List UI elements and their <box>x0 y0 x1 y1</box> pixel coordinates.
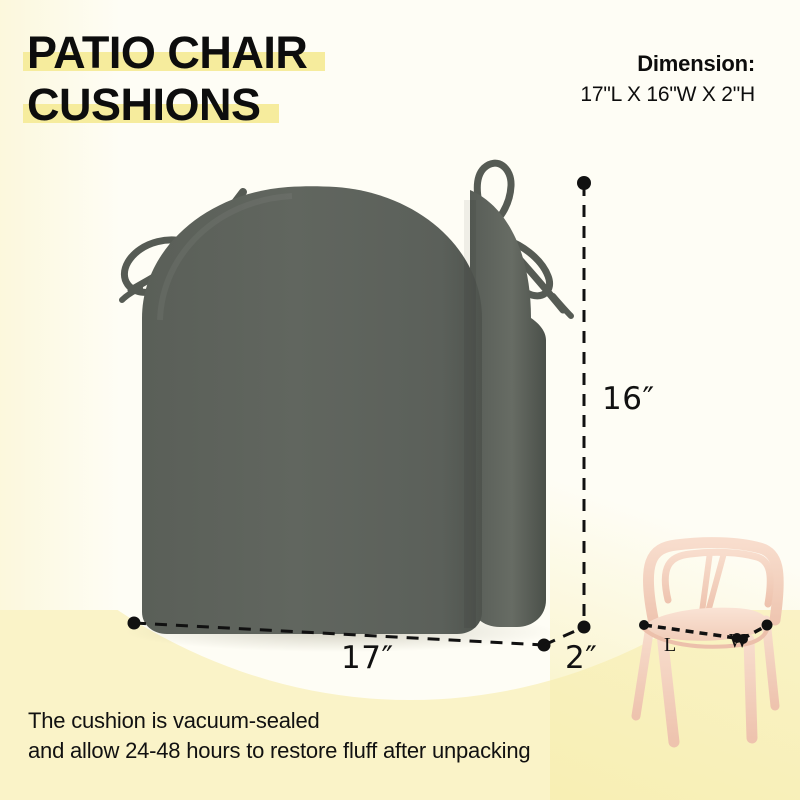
page-title-line-1-text: PATIO CHAIR <box>27 27 307 78</box>
page-title: PATIO CHAIR CUSHIONS <box>27 27 447 131</box>
footer-note: The cushion is vacuum-sealed and allow 2… <box>28 706 530 766</box>
product-infographic-poster: PATIO CHAIR CUSHIONS Dimension: 17"L X 1… <box>0 0 800 800</box>
dimension-caption-value: 17"L X 16"W X 2"H <box>580 80 755 110</box>
page-title-line-2: CUSHIONS <box>27 79 279 131</box>
page-title-line-2-text: CUSHIONS <box>27 79 261 130</box>
measurement-label-height: 16″ <box>602 381 655 417</box>
chair-label-width: W <box>729 630 748 653</box>
dimension-caption-title: Dimension: <box>580 50 755 78</box>
dimension-caption: Dimension: 17"L X 16"W X 2"H <box>580 50 755 110</box>
chair-label-length: L <box>664 634 676 657</box>
measurement-label-depth: 2″ <box>565 640 597 676</box>
footer-note-line-1: The cushion is vacuum-sealed <box>28 706 530 736</box>
measurement-label-length: 17″ <box>341 640 394 676</box>
page-title-line-1: PATIO CHAIR <box>27 27 325 79</box>
footer-note-line-2: and allow 24-48 hours to restore fluff a… <box>28 736 530 766</box>
